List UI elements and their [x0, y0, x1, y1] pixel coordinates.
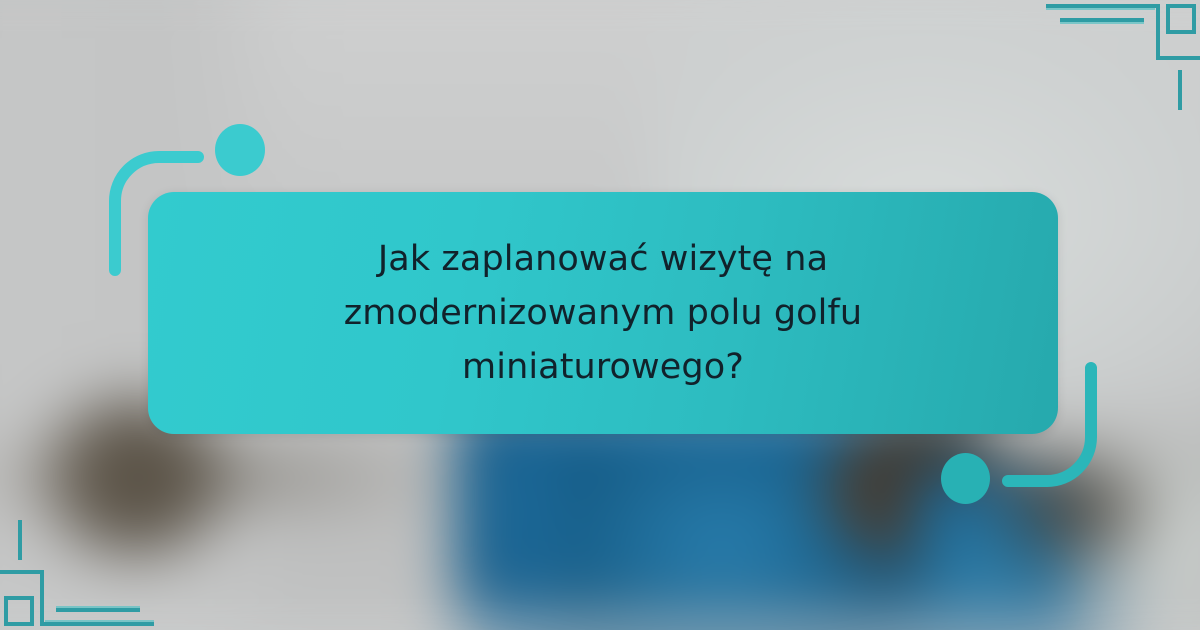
title-card: Jak zaplanować wizytę na zmodernizowanym…: [148, 192, 1058, 434]
background-dark-right-blob: [981, 444, 1171, 578]
banner-stage: Jak zaplanować wizytę na zmodernizowanym…: [0, 0, 1200, 630]
page-title: Jak zaplanować wizytę na zmodernizowanym…: [208, 232, 998, 394]
background-bottom-fade: [0, 589, 1200, 630]
